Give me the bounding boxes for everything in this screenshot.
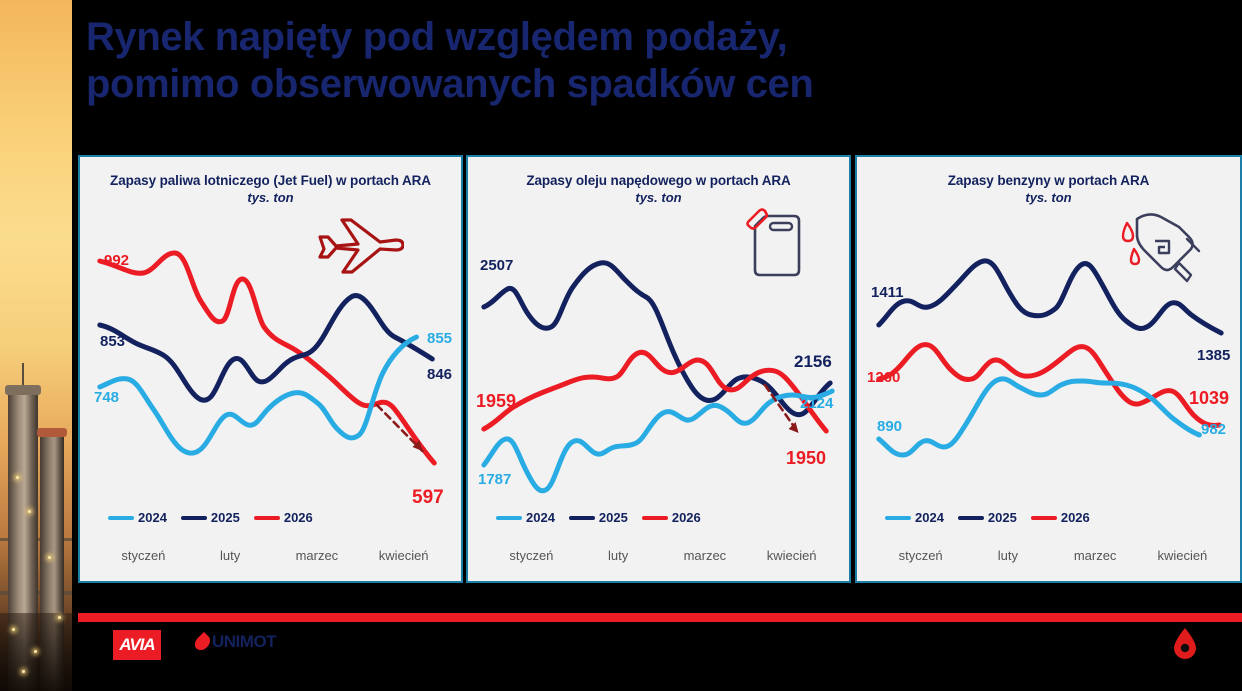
light (16, 476, 19, 479)
x-axis-month-labels: styczeń luty marzec kwiecień (100, 548, 447, 563)
x-axis-month-labels: styczeń luty marzec kwiecień (488, 548, 835, 563)
legend-item-2024[interactable]: 2024 (885, 510, 944, 525)
legend-swatch-2025 (958, 516, 984, 520)
value-label-2024-end: 982 (1201, 421, 1226, 438)
corner-droplet-icon (1172, 627, 1198, 659)
value-label-2024-start: 1787 (478, 471, 511, 488)
legend-item-2024[interactable]: 2024 (496, 510, 555, 525)
legend-swatch-2024 (108, 516, 134, 520)
value-label-2025-end: 2156 (794, 352, 832, 372)
value-label-2025-start: 853 (100, 333, 125, 350)
x-axis-month-labels: styczeń luty marzec kwiecień (877, 548, 1226, 563)
legend-swatch-2026 (254, 516, 280, 520)
month-label-luty: luty (187, 548, 274, 563)
value-label-2026-start: 1959 (476, 391, 516, 412)
month-label-luty: luty (575, 548, 662, 563)
chart-plot-jet-fuel (80, 197, 461, 512)
month-label-kwiecien: kwiecień (360, 548, 447, 563)
chart-panel-jet-fuel: Zapasy paliwa lotniczego (Jet Fuel) w po… (78, 155, 463, 583)
value-label-2025-start: 1411 (871, 284, 904, 301)
legend-item-2026[interactable]: 2026 (1031, 510, 1090, 525)
legend-swatch-2026 (642, 516, 668, 520)
light (28, 510, 31, 513)
legend-item-2026[interactable]: 2026 (254, 510, 313, 525)
tower-cap (5, 385, 41, 395)
panel-title: Zapasy paliwa lotniczego (Jet Fuel) w po… (80, 173, 461, 188)
panel-title: Zapasy benzyny w portach ARA (857, 173, 1240, 188)
month-label-kwiecien: kwiecień (748, 548, 835, 563)
month-label-luty: luty (964, 548, 1051, 563)
month-label-styczen: styczeń (488, 548, 575, 563)
legend-swatch-2024 (885, 516, 911, 520)
legend-swatch-2026 (1031, 516, 1057, 520)
legend-label-2025: 2025 (599, 510, 628, 525)
legend-item-2024[interactable]: 2024 (108, 510, 167, 525)
chart-panel-gasoline: Zapasy benzyny w portach ARA tys. ton 14… (855, 155, 1242, 583)
light (12, 628, 15, 631)
chart-panel-diesel: Zapasy oleju napędowego w portach ARA ty… (466, 155, 851, 583)
month-label-kwiecien: kwiecień (1139, 548, 1226, 563)
legend-swatch-2025 (181, 516, 207, 520)
value-label-2024-end: 855 (427, 330, 452, 347)
legend-item-2025[interactable]: 2025 (569, 510, 628, 525)
value-label-2026-end: 1950 (786, 448, 826, 469)
light (22, 670, 25, 673)
legend-swatch-2024 (496, 516, 522, 520)
avia-logo: AVIA (113, 630, 161, 660)
chart-legend: 2024 2025 2026 (885, 510, 1090, 525)
refinery-photo (0, 0, 72, 691)
light (48, 556, 51, 559)
value-label-2024-end: 2124 (800, 395, 833, 412)
value-label-2025-end: 1385 (1197, 347, 1230, 364)
page-title: Rynek napięty pod względem podaży, pomim… (86, 14, 1086, 108)
droplet-icon (192, 631, 213, 652)
unimot-label: UNIMOT (212, 632, 276, 652)
month-label-styczen: styczeń (100, 548, 187, 563)
value-label-2024-start: 890 (877, 418, 902, 435)
legend-item-2025[interactable]: 2025 (181, 510, 240, 525)
value-label-2024-start: 748 (94, 389, 119, 406)
month-label-styczen: styczeń (877, 548, 964, 563)
value-label-2026-start: 992 (104, 252, 129, 269)
unimot-logo: UNIMOT (196, 632, 276, 652)
light (34, 650, 37, 653)
value-label-2026-end: 1039 (1189, 388, 1229, 409)
light (58, 616, 61, 619)
legend-label-2024: 2024 (138, 510, 167, 525)
legend-item-2026[interactable]: 2026 (642, 510, 701, 525)
chart-legend: 2024 2025 2026 (108, 510, 313, 525)
footer-divider (78, 613, 1242, 622)
value-label-2025-start: 2507 (480, 257, 513, 274)
legend-label-2026: 2026 (1061, 510, 1090, 525)
chart-legend: 2024 2025 2026 (496, 510, 701, 525)
legend-label-2026: 2026 (672, 510, 701, 525)
value-label-2025-end: 846 (427, 366, 452, 383)
legend-swatch-2025 (569, 516, 595, 520)
month-label-marzec: marzec (1052, 548, 1139, 563)
panel-title: Zapasy oleju napędowego w portach ARA (468, 173, 849, 188)
month-label-marzec: marzec (662, 548, 749, 563)
legend-label-2024: 2024 (526, 510, 555, 525)
trend-arrow-down (765, 385, 799, 433)
legend-label-2024: 2024 (915, 510, 944, 525)
tower-mast (22, 363, 24, 385)
tower-cap (37, 428, 67, 437)
legend-label-2025: 2025 (211, 510, 240, 525)
value-label-2026-end: 597 (412, 487, 444, 509)
chart-plot-gasoline (857, 197, 1240, 512)
month-label-marzec: marzec (274, 548, 361, 563)
legend-label-2026: 2026 (284, 510, 313, 525)
legend-item-2025[interactable]: 2025 (958, 510, 1017, 525)
value-label-2026-start: 1260 (867, 369, 900, 386)
legend-label-2025: 2025 (988, 510, 1017, 525)
